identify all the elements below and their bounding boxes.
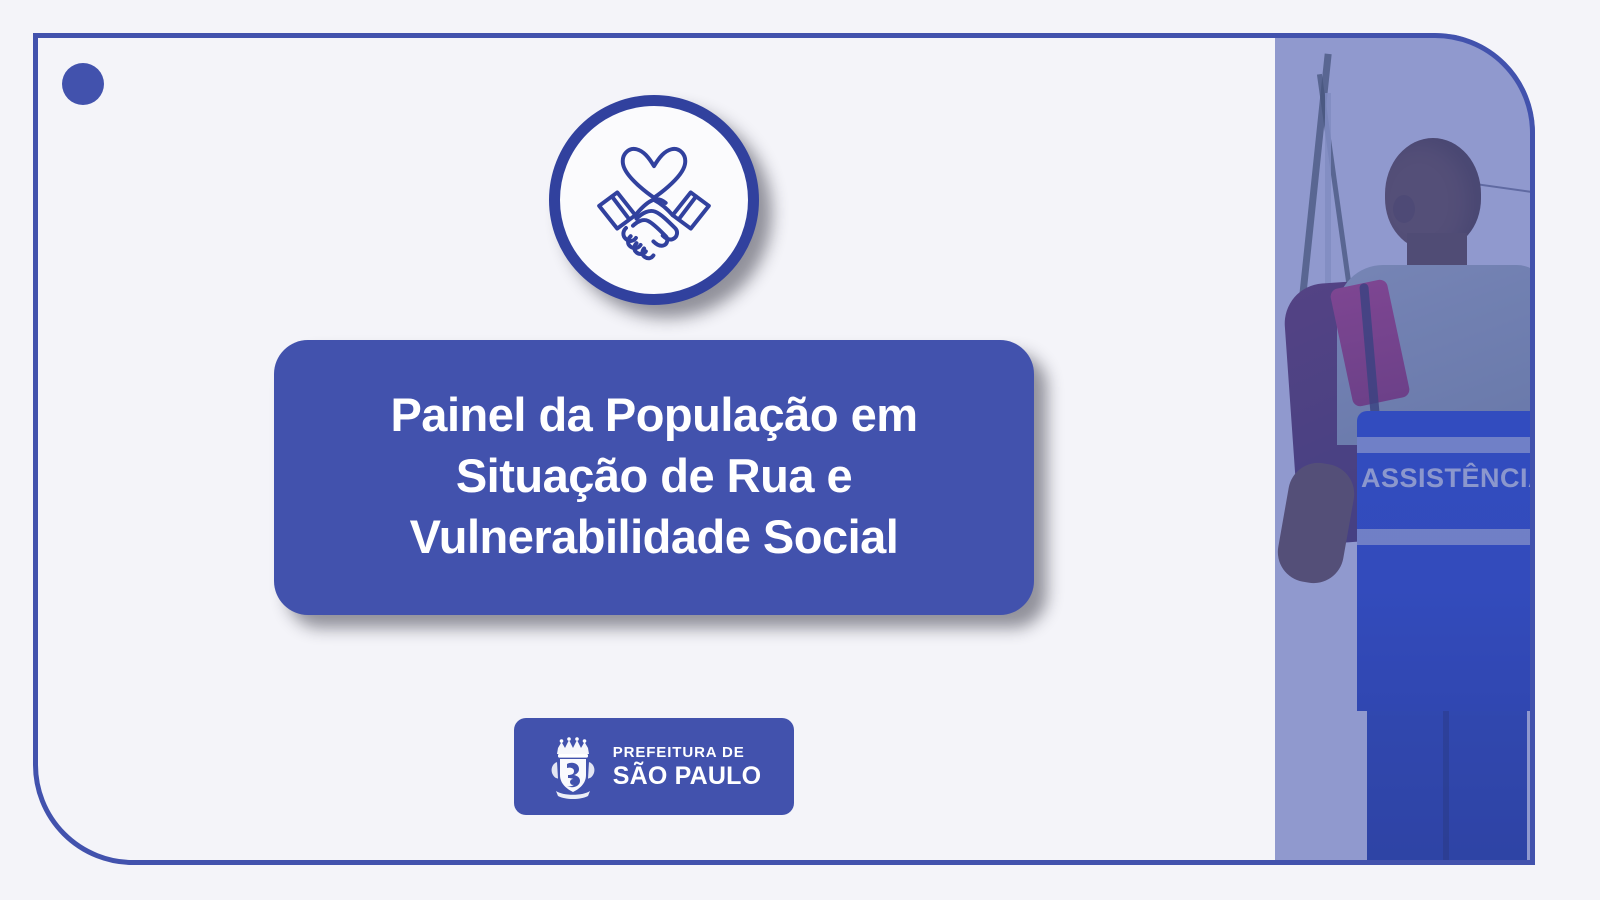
logo-line-2: SÃO PAULO	[613, 764, 762, 789]
center-column: Painel da População em Situação de Rua e…	[33, 33, 1275, 865]
handshake-heart-icon-badge	[549, 95, 759, 305]
logo-line-1: PREFEITURA DE	[613, 745, 762, 760]
photo-panel: ASSISTÊNCIA SOCIAL	[1275, 33, 1535, 865]
sao-paulo-coat-of-arms-icon	[547, 734, 599, 800]
prefeitura-logo-text: PREFEITURA DE SÃO PAULO	[613, 745, 762, 789]
prefeitura-logo: PREFEITURA DE SÃO PAULO	[514, 718, 794, 815]
slide-canvas: ASSISTÊNCIA SOCIAL	[0, 0, 1600, 900]
title-card: Painel da População em Situação de Rua e…	[274, 340, 1034, 615]
photo-blue-tint-overlay	[1275, 33, 1535, 865]
page-title: Painel da População em Situação de Rua e…	[304, 384, 1004, 567]
handshake-heart-icon	[584, 130, 724, 270]
